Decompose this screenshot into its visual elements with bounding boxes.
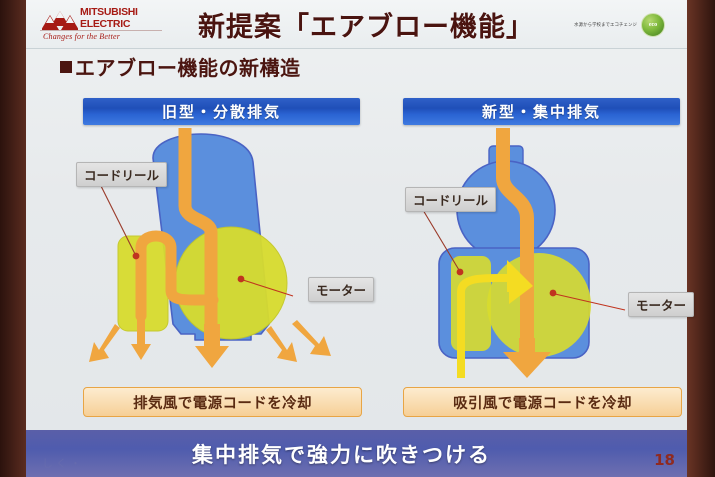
projector-screen: MITSUBISHI ELECTRIC Changes for the Bett… — [0, 0, 715, 477]
footer-watermark: しく・ — [42, 455, 84, 471]
callout-motor-new: モーター — [628, 292, 694, 317]
diagram-new-type — [403, 128, 680, 378]
callout-cord-reel-new: コードリール — [405, 187, 496, 212]
section-heading-text: エアブロー機能の新構造 — [75, 52, 301, 81]
page-number: 18 — [654, 451, 675, 469]
slide: MITSUBISHI ELECTRIC Changes for the Bett… — [26, 0, 687, 430]
callout-motor-old: モーター — [308, 277, 374, 302]
slide-header: MITSUBISHI ELECTRIC Changes for the Bett… — [26, 0, 687, 49]
eco-badge-text: eco — [649, 22, 657, 28]
panel-header-old-type: 旧型・分散排気 — [83, 98, 360, 125]
logo-divider — [40, 30, 162, 31]
page-title: 新提案「エアブロー機能」 — [176, 4, 556, 44]
brand-name-line1: MITSUBISHI — [80, 7, 138, 19]
callout-cord-reel-old: コードリール — [76, 162, 167, 187]
footer-text: 集中排気で強力に吹きつける — [192, 439, 491, 469]
bullet-square-icon — [60, 61, 72, 73]
brand-name: MITSUBISHI ELECTRIC — [80, 7, 138, 30]
panel-header-new-type: 新型・集中排気 — [403, 98, 680, 125]
caption-old-type: 排気風で電源コードを冷却 — [83, 387, 362, 417]
eco-mark: 水源から学校までエコチェンジ eco — [574, 12, 665, 38]
slide-footer: 集中排気で強力に吹きつける しく・ 18 — [26, 430, 687, 477]
screen-right-bezel — [687, 0, 715, 477]
section-heading: エアブロー機能の新構造 — [60, 52, 301, 81]
eco-leaf-icon: eco — [641, 13, 665, 37]
screen-left-bezel — [0, 0, 26, 477]
eco-tagline: 水源から学校までエコチェンジ — [574, 22, 637, 28]
brand-tagline: Changes for the Better — [43, 32, 120, 41]
brand-name-line2: ELECTRIC — [80, 19, 138, 31]
caption-new-type: 吸引風で電源コードを冷却 — [403, 387, 682, 417]
mitsubishi-electric-logo: MITSUBISHI ELECTRIC Changes for the Bett… — [40, 5, 164, 45]
